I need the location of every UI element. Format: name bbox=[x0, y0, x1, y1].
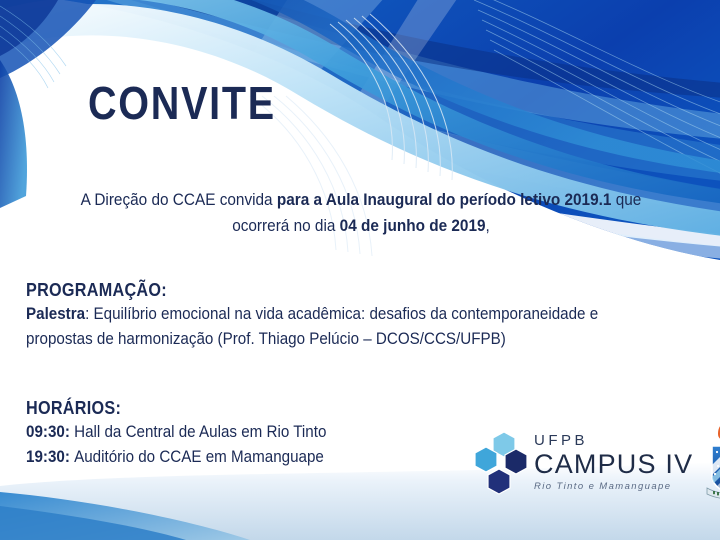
invitation-poster: CONVITE A Direção do CCAE convida para a… bbox=[0, 0, 720, 540]
schedule-place: Hall da Central de Aulas em Rio Tinto bbox=[74, 423, 326, 441]
intro-part-3: , bbox=[486, 217, 490, 235]
intro-bold-date: 04 de junho de 2019 bbox=[340, 217, 486, 235]
hexagon-cells-icon bbox=[474, 429, 530, 495]
palestra-line-1: Palestra: Equilíbrio emocional na vida a… bbox=[26, 302, 598, 327]
ufpb-coat-of-arms-icon bbox=[703, 422, 720, 502]
ufpb-campus-iv-logo: UFPB CAMPUS IV Rio Tinto e Mamanguape bbox=[474, 420, 714, 504]
intro-part-1: A Direção do CCAE convida bbox=[81, 191, 277, 209]
logo-institution: UFPB bbox=[534, 433, 693, 448]
logo-campus: CAMPUS IV bbox=[534, 451, 693, 478]
schedule-time: 19:30 bbox=[26, 448, 65, 466]
schedule-separator: : bbox=[65, 423, 74, 441]
invitation-intro-text: A Direção do CCAE convida para a Aula In… bbox=[59, 188, 664, 239]
intro-bold-event: para a Aula Inaugural do período letivo … bbox=[277, 191, 612, 209]
schedule-place: Auditório do CCAE em Mamanguape bbox=[74, 448, 324, 466]
programacao-section: PROGRAMAÇÃO: Palestra: Equilíbrio emocio… bbox=[26, 278, 648, 352]
horarios-section: HORÁRIOS: 09:30: Hall da Central de Aula… bbox=[26, 396, 353, 470]
logo-cities: Rio Tinto e Mamanguape bbox=[534, 482, 693, 492]
schedule-separator: : bbox=[65, 448, 74, 466]
palestra-line-2: propostas de harmonização (Prof. Thiago … bbox=[26, 327, 598, 352]
palestra-text-1: : Equilíbrio emocional na vida acadêmica… bbox=[85, 305, 598, 323]
logo-wordmark: UFPB CAMPUS IV Rio Tinto e Mamanguape bbox=[534, 433, 693, 492]
programacao-heading: PROGRAMAÇÃO: bbox=[26, 278, 586, 302]
palestra-label: Palestra bbox=[26, 305, 85, 323]
schedule-row: 19:30: Auditório do CCAE em Mamanguape bbox=[26, 445, 326, 470]
horarios-heading: HORÁRIOS: bbox=[26, 396, 320, 420]
schedule-row: 09:30: Hall da Central de Aulas em Rio T… bbox=[26, 420, 326, 445]
page-title: CONVITE bbox=[88, 80, 276, 126]
schedule-time: 09:30 bbox=[26, 423, 65, 441]
